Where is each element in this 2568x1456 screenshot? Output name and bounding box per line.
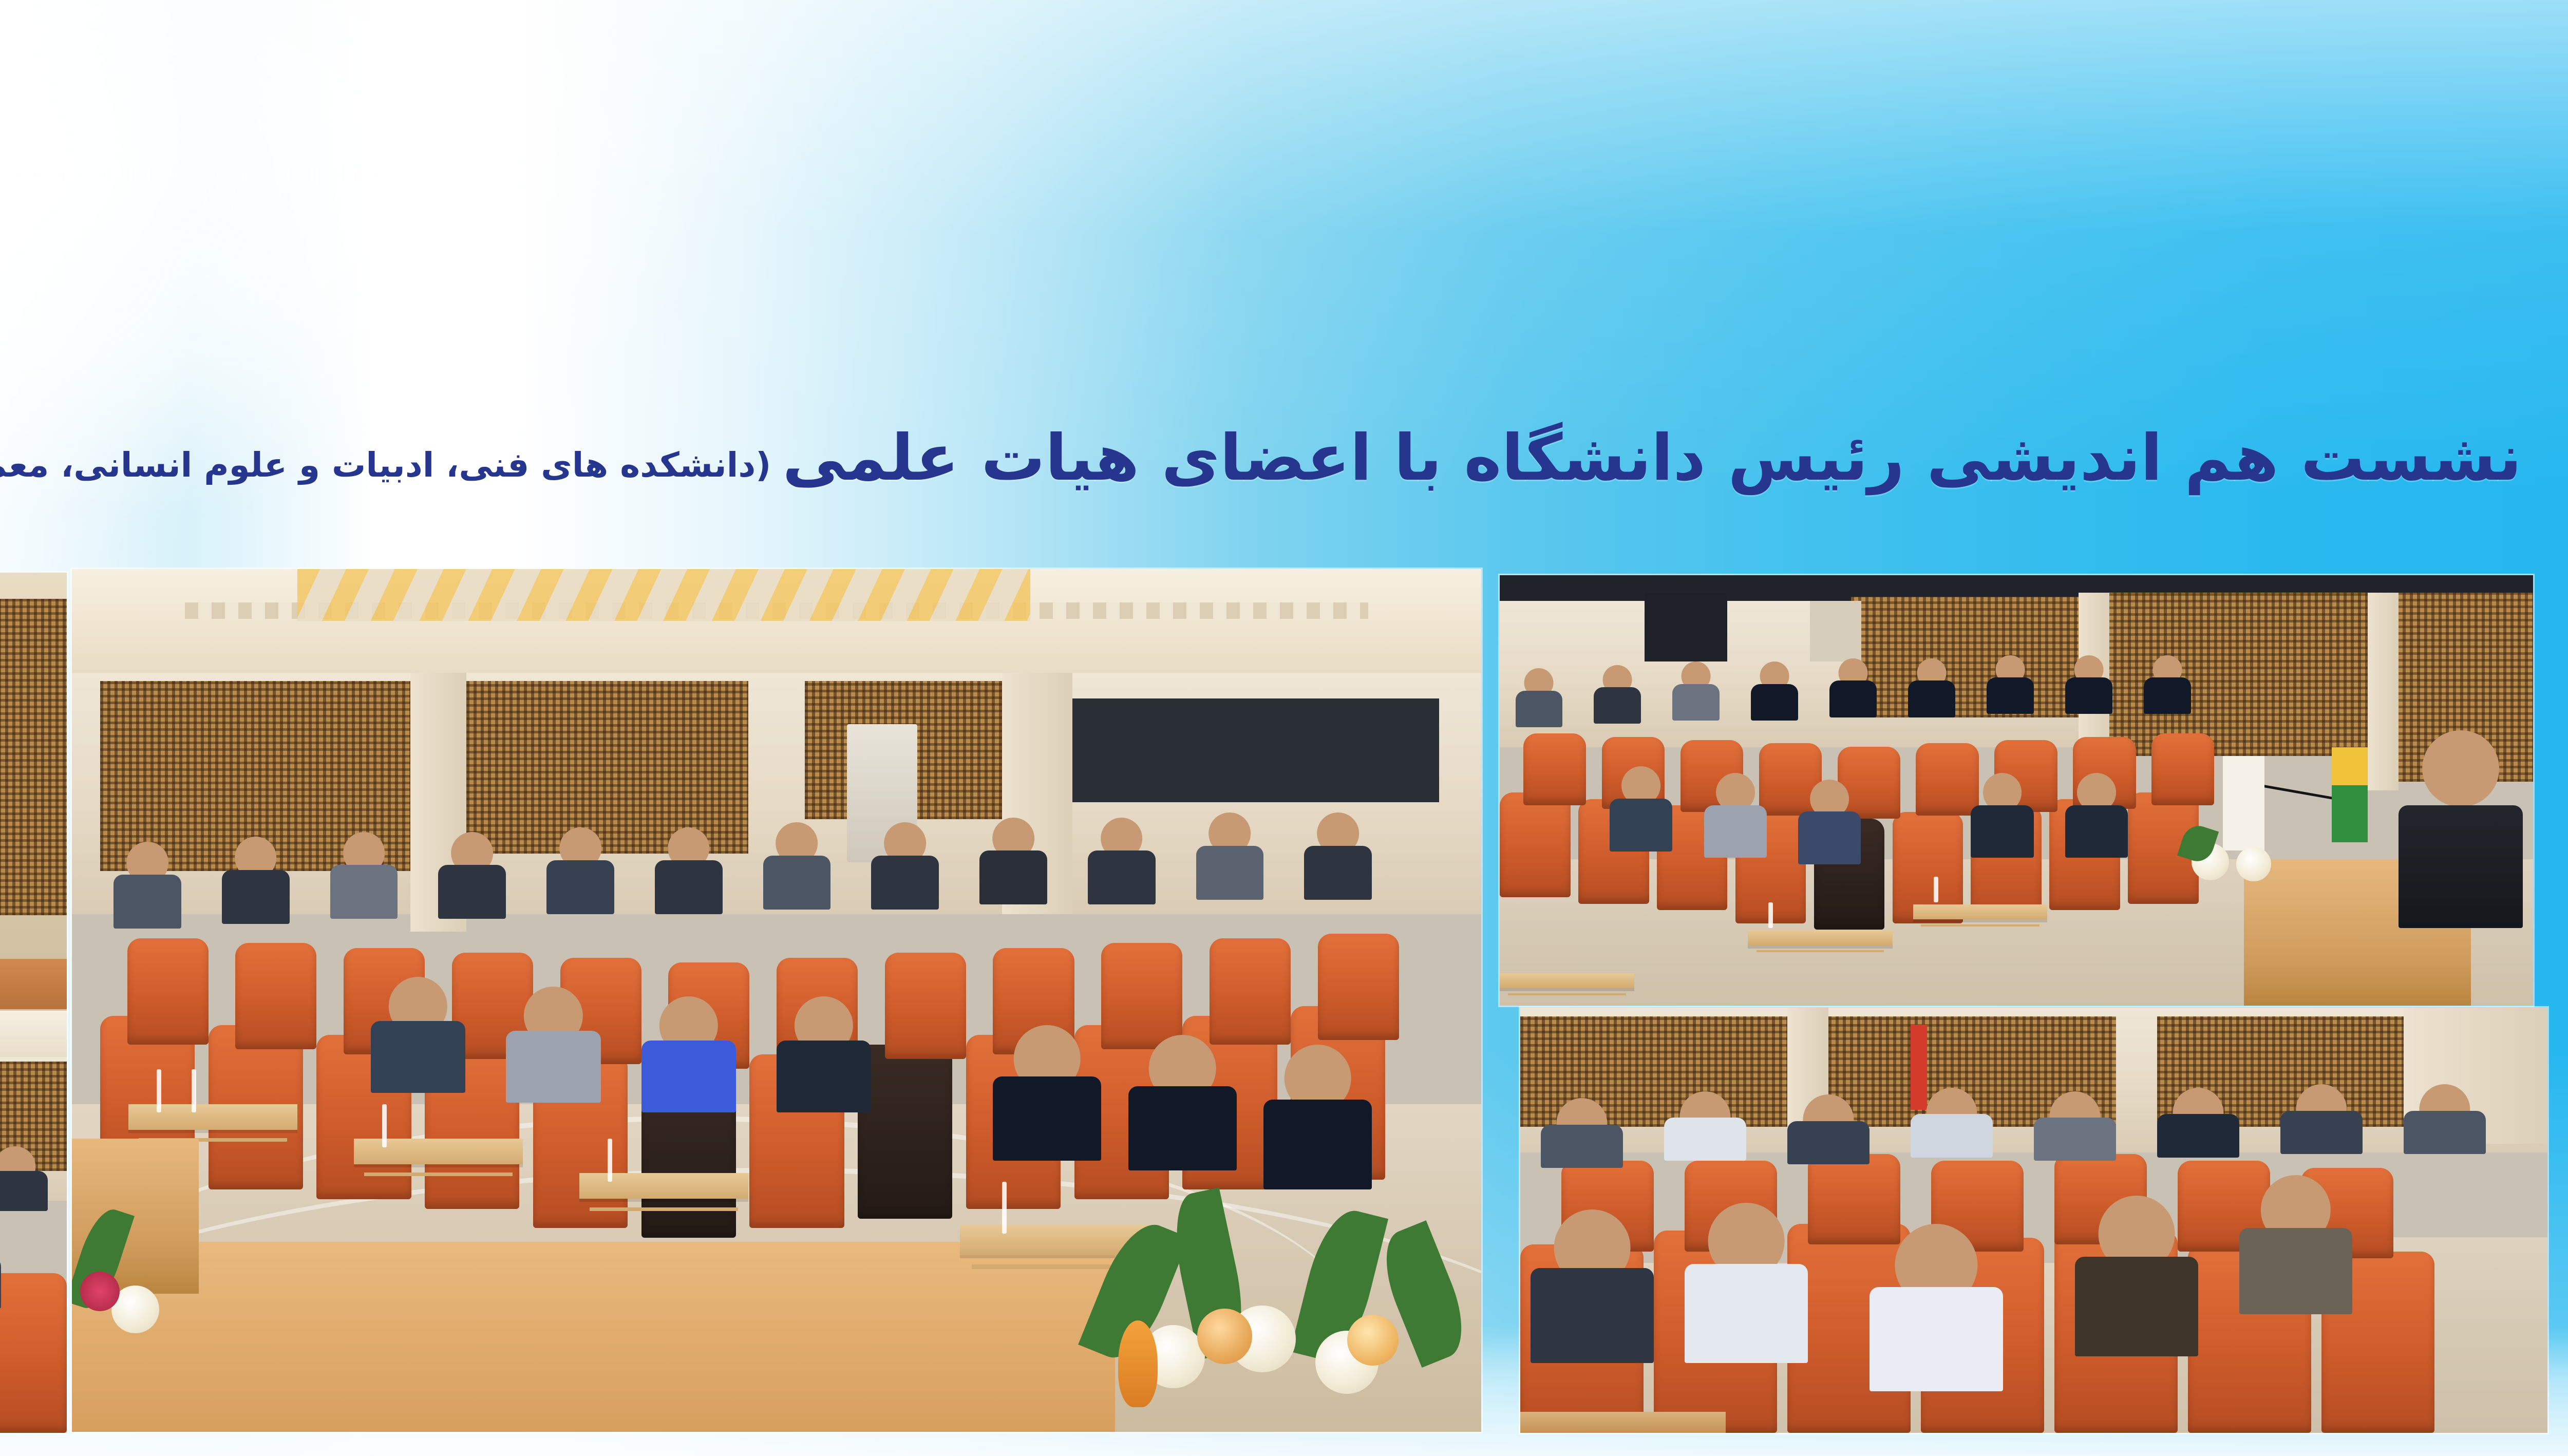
event-banner: دانشگاه گیلان روابط عمومی دانشگاه گیلان … <box>0 0 2568 1456</box>
photo-right-top-scene <box>1500 575 2533 1006</box>
photo-center <box>72 569 1481 1432</box>
photo-right-bottom <box>1520 1008 2547 1433</box>
photo-right-bottom-scene <box>1520 1008 2547 1433</box>
photo-bottom-left <box>0 1011 67 1433</box>
photo-bottom-left-scene <box>0 1011 67 1433</box>
photo-top-left-scene <box>0 573 67 1012</box>
photo-top-left <box>0 573 67 1012</box>
photo-collage <box>0 0 2568 1456</box>
photo-right-top <box>1500 575 2533 1006</box>
photo-center-scene <box>72 569 1481 1432</box>
